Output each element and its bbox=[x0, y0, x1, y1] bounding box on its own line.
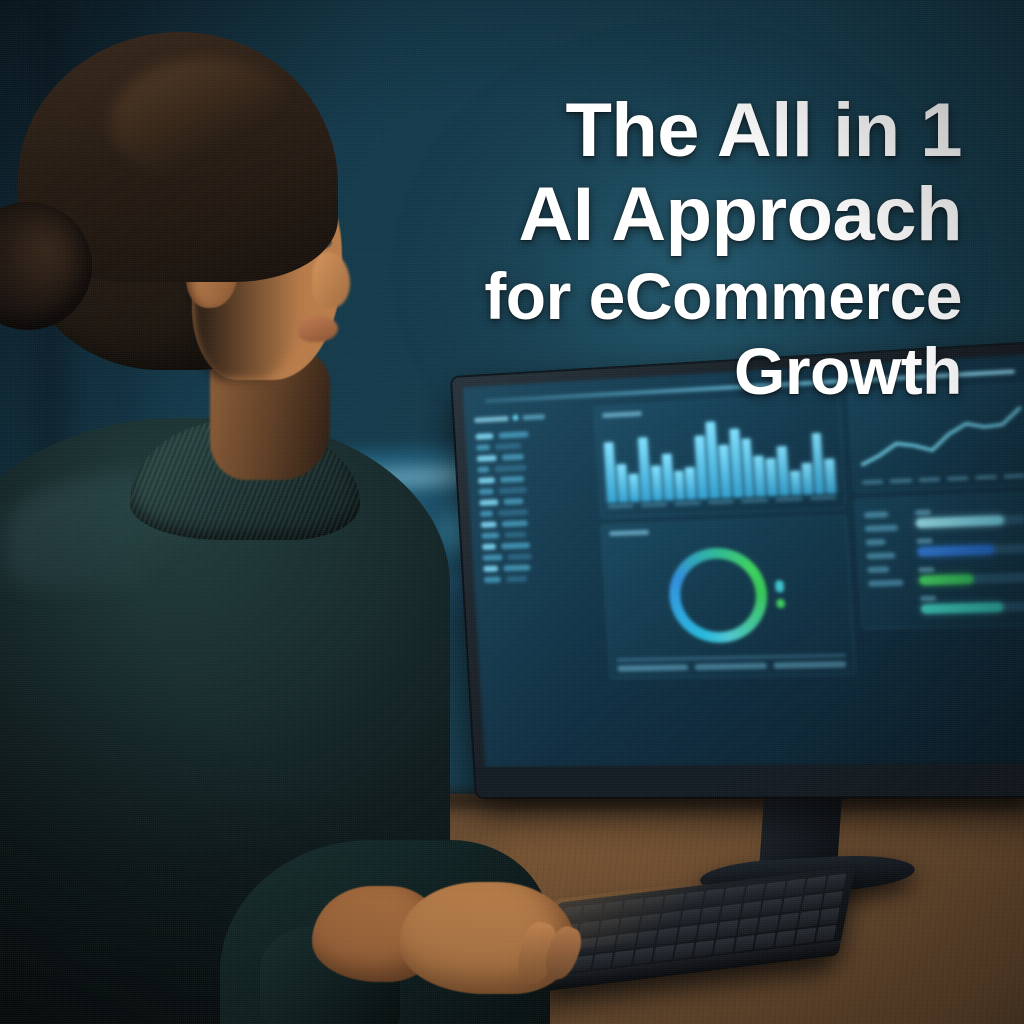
keyboard-key bbox=[825, 874, 846, 891]
progress-bar-track bbox=[915, 514, 1024, 528]
sidebar-item[interactable] bbox=[477, 450, 589, 461]
bar bbox=[729, 429, 742, 497]
keyboard-key bbox=[798, 910, 819, 927]
sidebar-item[interactable] bbox=[481, 529, 593, 539]
stat-column bbox=[864, 504, 913, 622]
sidebar-item[interactable] bbox=[482, 540, 594, 550]
keyboard-key bbox=[758, 915, 779, 932]
progress-bar-row bbox=[915, 506, 1024, 528]
legend-item[interactable] bbox=[695, 663, 767, 671]
donut-ring bbox=[666, 546, 769, 644]
sidebar-item[interactable] bbox=[479, 484, 591, 495]
monitor-chin bbox=[475, 764, 1024, 798]
bar-chart-title bbox=[603, 411, 643, 418]
sidebar-item[interactable] bbox=[478, 473, 590, 484]
progress-bar-fill bbox=[915, 515, 1003, 528]
bar bbox=[825, 459, 837, 494]
bar bbox=[629, 474, 640, 502]
progress-bar-fill bbox=[917, 545, 994, 557]
progress-bar-label bbox=[917, 538, 933, 544]
keyboard-key bbox=[795, 927, 816, 944]
sidebar-item[interactable] bbox=[483, 562, 595, 572]
keyboard-key bbox=[673, 942, 694, 959]
indicator-teal bbox=[775, 579, 784, 592]
headline: The All in 1 AI Approach for eCommerce G… bbox=[302, 92, 962, 406]
keyboard-key bbox=[785, 878, 806, 895]
progress-bar-track bbox=[921, 601, 1024, 613]
donut-divider bbox=[617, 654, 846, 662]
bar bbox=[766, 458, 778, 496]
sidebar-item[interactable] bbox=[480, 506, 592, 517]
bar bbox=[777, 446, 789, 495]
keyboard-key bbox=[805, 876, 826, 893]
donut-legend bbox=[618, 661, 847, 672]
keyboard-key bbox=[737, 918, 758, 935]
sidebar-item[interactable] bbox=[482, 551, 594, 561]
dashboard-logo bbox=[474, 411, 586, 423]
donut-side-indicators bbox=[775, 579, 785, 607]
bar bbox=[662, 453, 674, 500]
sidebar-item[interactable] bbox=[475, 428, 587, 440]
keyboard-key bbox=[761, 898, 782, 915]
keyboard-key bbox=[764, 881, 785, 898]
dashboard-sidebar[interactable] bbox=[473, 388, 607, 759]
keyboard-key bbox=[741, 900, 762, 917]
bar bbox=[617, 464, 628, 503]
bar bbox=[754, 456, 766, 497]
progress-bar-row bbox=[917, 535, 1024, 557]
keyboard-key bbox=[744, 883, 765, 900]
analytics-monitor bbox=[452, 342, 1024, 797]
bar bbox=[674, 471, 685, 500]
bar bbox=[685, 467, 696, 500]
legend-item[interactable] bbox=[618, 664, 689, 671]
keyboard-key bbox=[822, 891, 843, 908]
keyboard-key bbox=[815, 925, 836, 942]
bar bbox=[706, 421, 720, 498]
dashboard-right-column bbox=[847, 363, 1024, 756]
indicator-green bbox=[776, 598, 785, 608]
progress-bar-row bbox=[920, 593, 1024, 614]
logo-mark bbox=[474, 416, 508, 423]
logo-text bbox=[522, 414, 545, 420]
bar bbox=[604, 442, 617, 503]
donut-chart-title bbox=[610, 530, 650, 537]
sidebar-item[interactable] bbox=[480, 518, 592, 528]
progress-bar-label bbox=[915, 509, 931, 515]
progress-bars-card[interactable] bbox=[855, 491, 1024, 629]
bar bbox=[790, 470, 801, 495]
bar-chart bbox=[603, 411, 837, 511]
headline-line-3: for eCommerce bbox=[302, 263, 962, 330]
donut-chart-card[interactable] bbox=[601, 515, 856, 679]
donut-chart bbox=[610, 533, 846, 655]
progress-bar-label bbox=[918, 567, 934, 573]
sidebar-item[interactable] bbox=[484, 573, 596, 583]
dashboard bbox=[463, 354, 1024, 767]
progress-bar-label bbox=[920, 596, 936, 602]
bar bbox=[651, 465, 662, 501]
bar bbox=[638, 437, 651, 501]
status-dot-icon bbox=[512, 414, 518, 420]
keyboard-key bbox=[714, 937, 735, 954]
bar bbox=[718, 444, 731, 498]
bar bbox=[811, 433, 824, 494]
keyboard-key bbox=[694, 940, 715, 957]
keyboard-key bbox=[592, 952, 613, 969]
headline-line-1: The All in 1 bbox=[302, 92, 962, 170]
sidebar-item[interactable] bbox=[479, 495, 591, 506]
bar-chart-card[interactable] bbox=[594, 393, 846, 518]
progress-bar-track bbox=[919, 572, 1024, 585]
progress-bar-row bbox=[918, 564, 1024, 585]
keyboard-key bbox=[802, 893, 823, 910]
keyboard-key bbox=[775, 930, 796, 947]
legend-item[interactable] bbox=[773, 661, 847, 669]
bar bbox=[801, 463, 812, 494]
headline-line-4: Growth bbox=[302, 338, 962, 405]
progress-bar-track bbox=[917, 543, 1024, 556]
dashboard-main-column bbox=[593, 374, 861, 758]
keyboard-key bbox=[781, 896, 802, 913]
keyboard-key bbox=[778, 913, 799, 930]
keyboard-key bbox=[653, 945, 674, 962]
keyboard-key bbox=[734, 935, 755, 952]
progress-bar-fill bbox=[921, 602, 1004, 614]
keyboard-key bbox=[819, 908, 840, 925]
keyboard-key bbox=[633, 947, 654, 964]
progress-bar-fill bbox=[919, 574, 974, 585]
monitor-screen[interactable] bbox=[463, 354, 1024, 767]
bar bbox=[741, 438, 754, 497]
sidebar-item[interactable] bbox=[476, 439, 588, 451]
keyboard-key bbox=[754, 932, 775, 949]
hero-banner: The All in 1 AI Approach for eCommerce G… bbox=[0, 0, 1024, 1024]
keyboard-key bbox=[612, 949, 633, 966]
progress-bar-list bbox=[912, 499, 1024, 620]
headline-line-2: AI Approach bbox=[302, 176, 962, 254]
sidebar-item[interactable] bbox=[477, 462, 589, 473]
